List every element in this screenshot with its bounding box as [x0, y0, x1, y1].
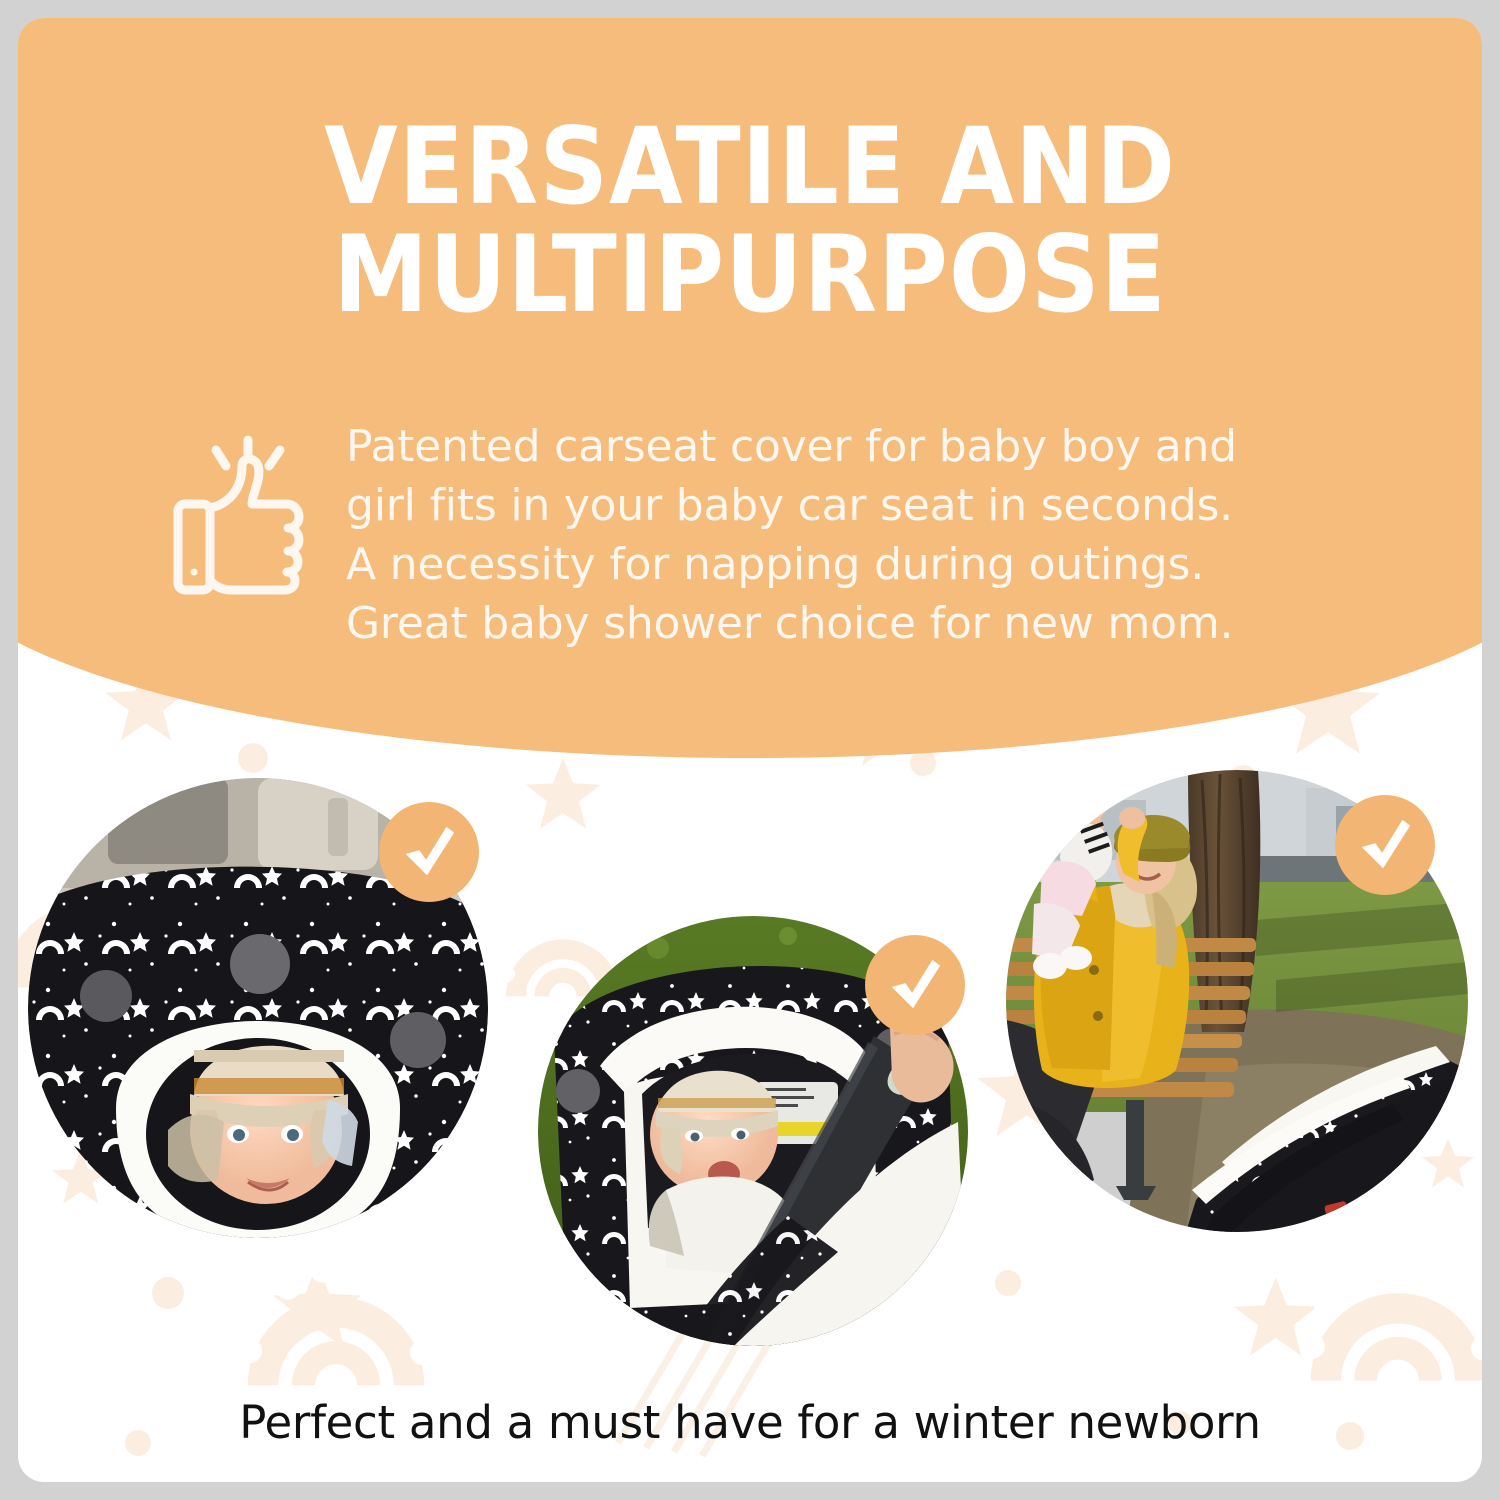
- check-icon: [884, 954, 946, 1016]
- check-icon: [1354, 814, 1416, 876]
- product-card: VERSATILE AND MULTIPURPOSE Paten: [18, 18, 1482, 1482]
- check-icon: [398, 821, 460, 883]
- footer-caption: Perfect and a must have for a winter new…: [18, 1396, 1482, 1449]
- photo-gallery: [18, 18, 1482, 1482]
- check-badge-2: [865, 935, 965, 1035]
- infographic-stage: VERSATILE AND MULTIPURPOSE Paten: [0, 0, 1500, 1500]
- check-badge-3: [1335, 795, 1435, 895]
- check-badge-1: [379, 802, 479, 902]
